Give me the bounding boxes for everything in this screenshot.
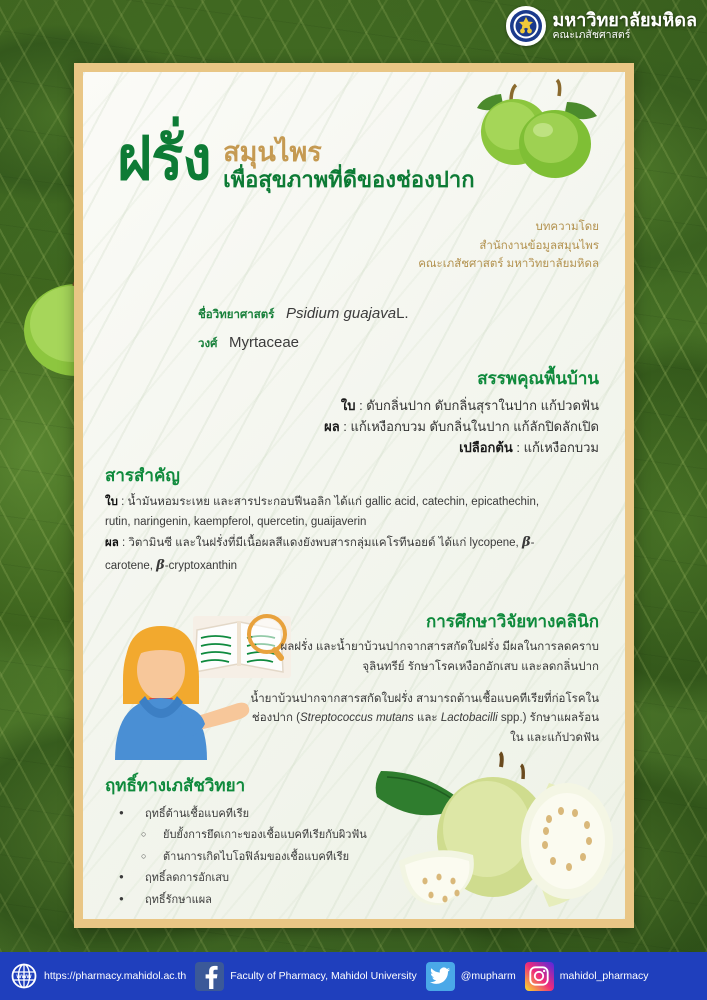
family-value: Myrtaceae — [229, 334, 299, 351]
family-label: วงศ์ — [198, 338, 217, 350]
scientific-name-label: ชื่อวิทยาศาสตร์ — [198, 309, 274, 321]
mahidol-seal-icon — [506, 6, 546, 46]
title-sub2: เพื่อสุขภาพที่ดีของช่องปาก — [223, 167, 474, 192]
university-name: มหาวิทยาลัยมหิดล — [553, 10, 698, 30]
www-globe-icon: www — [9, 962, 38, 991]
title-main: ฝรั่ง — [117, 130, 211, 187]
clinical-p2-c: spp.) รักษาแผลร้อนใน และแก้ปวดฟัน — [498, 712, 599, 744]
bacteria-name-2: Lactobacilli — [441, 712, 498, 724]
const-fruit-text: : วิตามินซี และในฝรั่งที่มีเนื้อผลสีแดงย… — [122, 537, 519, 549]
trad-part-1: ผล — [324, 419, 340, 434]
footer-bar: www https://pharmacy.mahidol.ac.th Facul… — [0, 952, 707, 1000]
clinical-heading: การศึกษาวิจัยทางคลินิก — [249, 608, 599, 635]
facebook-label: Faculty of Pharmacy, Mahidol University — [224, 970, 426, 982]
const-leaf-text: : น้ำมันหอมระเหย และสารประกอบฟีนอลิก ได้… — [105, 496, 539, 528]
faculty-name: คณะเภสัชศาสตร์ — [553, 30, 698, 42]
trad-text-2: : แก้เหงือกบวม — [516, 440, 599, 455]
constituents-section: สารสำคัญ ใบ : น้ำมันหอมระเหย และสารประกอ… — [105, 462, 560, 578]
trad-text-0: : ดับกลิ่นปาก ดับกลิ่นสุราในปาก แก้ปวดฟั… — [359, 398, 599, 413]
footer-website[interactable]: www https://pharmacy.mahidol.ac.th — [9, 962, 195, 991]
trad-text-1: : แก้เหงือกบวม ดับกลิ่นในปาก แก้ลักปิดลั… — [343, 419, 599, 434]
const-fruit-part: ผล — [105, 537, 119, 549]
trad-part-0: ใบ — [341, 398, 356, 413]
website-label: https://pharmacy.mahidol.ac.th — [38, 970, 195, 982]
const-leaf-part: ใบ — [105, 496, 118, 508]
title-sub1: สมุนไพร — [223, 137, 322, 167]
footer-facebook[interactable]: Faculty of Pharmacy, Mahidol University — [195, 962, 426, 991]
const-beta2-rest: -cryptoxanthin — [165, 560, 237, 572]
constituents-heading: สารสำคัญ — [105, 462, 560, 489]
beta-symbol-2: β — [156, 558, 165, 573]
svg-text:www: www — [15, 973, 32, 980]
scientific-name-authority: L. — [396, 305, 409, 322]
traditional-uses-section: สรรพคุณพื้นบ้าน ใบ : ดับกลิ่นปาก ดับกลิ่… — [169, 365, 599, 458]
guava-pair-illustration — [463, 78, 619, 186]
byline-line3: คณะเภสัชศาสตร์ มหาวิทยาลัยมหิดล — [418, 255, 599, 274]
instagram-label: mahidol_pharmacy — [554, 970, 658, 982]
byline-line1: บทความโดย — [418, 218, 599, 237]
trad-part-2: เปลือกต้น — [459, 440, 513, 455]
scientific-name-value: Psidium guajava — [286, 305, 396, 322]
poster-title: ฝรั่ง สมุนไพร เพื่อสุขภาพที่ดีของช่องปาก — [117, 130, 475, 194]
instagram-icon — [525, 962, 554, 991]
twitter-label: @mupharm — [455, 970, 525, 982]
byline: บทความโดย สำนักงานข้อมูลสมุนไพร คณะเภสัช… — [418, 218, 599, 274]
clinical-p2-b: และ — [414, 712, 441, 724]
clinical-paragraph-2: น้ำยาบ้วนปากจากสารสกัดใบฝรั่ง สามารถต้าน… — [249, 690, 599, 749]
facebook-icon — [195, 962, 224, 991]
mahidol-logo: มหาวิทยาลัยมหิดล คณะเภสัชศาสตร์ — [506, 6, 698, 46]
footer-instagram[interactable]: mahidol_pharmacy — [525, 962, 658, 991]
poster-card: ฝรั่ง สมุนไพร เพื่อสุขภาพที่ดีของช่องปาก… — [74, 63, 634, 928]
taxonomy-block: ชื่อวิทยาศาสตร์ Psidium guajavaL. วงศ์ M… — [198, 299, 409, 358]
clinical-paragraph-1: ผลฝรั่ง และน้ำยาบ้วนปากจากสารสกัดใบฝรั่ง… — [249, 638, 599, 678]
beta-symbol-1: β — [522, 535, 531, 550]
twitter-icon — [426, 962, 455, 991]
traditional-uses-heading: สรรพคุณพื้นบ้าน — [169, 365, 599, 392]
guava-fruit-photo — [353, 749, 625, 909]
footer-twitter[interactable]: @mupharm — [426, 962, 525, 991]
byline-line2: สำนักงานข้อมูลสมุนไพร — [418, 237, 599, 256]
clinical-research-section: การศึกษาวิจัยทางคลินิก ผลฝรั่ง และน้ำยาบ… — [249, 608, 599, 749]
bacteria-name-1: Streptococcus mutans — [300, 712, 414, 724]
